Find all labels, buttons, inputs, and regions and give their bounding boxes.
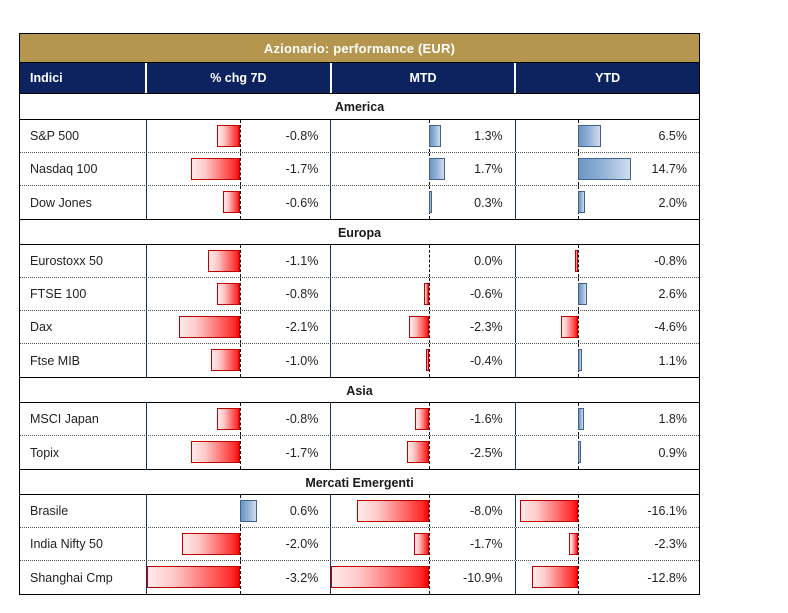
- row-label: Dow Jones: [20, 186, 147, 219]
- bar-area: [147, 403, 248, 435]
- table-row[interactable]: Shanghai Cmp-3.2%-10.9%-12.8%: [20, 561, 699, 594]
- value-bar: [578, 441, 581, 463]
- metric-value-m1: -1.7%: [248, 446, 330, 460]
- row-label: Brasile: [20, 495, 147, 527]
- zero-axis-line: [578, 561, 579, 594]
- bar-area: [147, 344, 248, 377]
- value-bar: [331, 566, 429, 588]
- bar-area: [147, 245, 248, 277]
- bar-area: [331, 344, 432, 377]
- bar-area: [516, 311, 617, 343]
- metric-value-m1: -0.8%: [248, 412, 330, 426]
- metric-value-m2: -1.6%: [433, 412, 515, 426]
- bar-area: [331, 436, 432, 469]
- value-bar: [578, 283, 587, 305]
- bar-area: [331, 311, 432, 343]
- metric-value-m2: 1.7%: [433, 162, 515, 176]
- zero-axis-line: [578, 528, 579, 560]
- bar-area: [331, 278, 432, 310]
- table-row[interactable]: S&P 500-0.8%1.3%6.5%: [20, 120, 699, 153]
- table-row[interactable]: Topix-1.7%-2.5%0.9%: [20, 436, 699, 469]
- metric-value-m2: -10.9%: [433, 571, 515, 585]
- metric-cell-m3: 1.8%: [516, 403, 699, 435]
- bar-area: [147, 153, 248, 185]
- bar-area: [331, 153, 432, 185]
- bar-area: [147, 186, 248, 219]
- value-bar: [407, 441, 430, 463]
- row-label: Dax: [20, 311, 147, 343]
- value-bar: [429, 191, 432, 213]
- zero-axis-line: [240, 528, 241, 560]
- metric-value-m2: -8.0%: [433, 504, 515, 518]
- bar-area: [147, 561, 248, 594]
- screenshot-root: Azionario: performance (EUR) Indici % ch…: [0, 0, 788, 613]
- section-header: Mercati Emergenti: [20, 469, 699, 495]
- metric-value-m3: 0.9%: [617, 446, 699, 460]
- table-row[interactable]: Dax-2.1%-2.3%-4.6%: [20, 311, 699, 344]
- metric-cell-m3: -4.6%: [516, 311, 699, 343]
- bar-area: [516, 528, 617, 560]
- value-bar: [147, 566, 240, 588]
- bar-area: [331, 186, 432, 219]
- metric-value-m3: -4.6%: [617, 320, 699, 334]
- zero-axis-line: [578, 245, 579, 277]
- table-row[interactable]: Dow Jones-0.6%0.3%2.0%: [20, 186, 699, 219]
- section-header: Asia: [20, 377, 699, 403]
- metric-value-m3: 1.8%: [617, 412, 699, 426]
- zero-axis-line: [429, 344, 430, 377]
- value-bar: [409, 316, 430, 338]
- metric-value-m1: -0.8%: [248, 287, 330, 301]
- metric-value-m1: -0.6%: [248, 196, 330, 210]
- table-row[interactable]: MSCI Japan-0.8%-1.6%1.8%: [20, 403, 699, 436]
- metric-cell-m3: -2.3%: [516, 528, 699, 560]
- table-row[interactable]: Ftse MIB-1.0%-0.4%1.1%: [20, 344, 699, 377]
- metric-cell-m3: -16.1%: [516, 495, 699, 527]
- table-row[interactable]: Nasdaq 100-1.7%1.7%14.7%: [20, 153, 699, 186]
- value-bar: [575, 250, 578, 272]
- metric-cell-m3: 6.5%: [516, 120, 699, 152]
- metric-cell-m2: -8.0%: [331, 495, 515, 527]
- value-bar: [424, 283, 429, 305]
- value-bar: [578, 125, 601, 147]
- bar-area: [331, 120, 432, 152]
- bar-area: [516, 186, 617, 219]
- table-body: AmericaS&P 500-0.8%1.3%6.5%Nasdaq 100-1.…: [20, 94, 699, 594]
- metric-value-m1: -1.1%: [248, 254, 330, 268]
- value-bar: [217, 408, 240, 430]
- metric-cell-m1: -0.8%: [147, 278, 331, 310]
- value-bar: [569, 533, 577, 555]
- value-bar: [578, 191, 585, 213]
- row-label: Nasdaq 100: [20, 153, 147, 185]
- zero-axis-line: [429, 495, 430, 527]
- bar-area: [516, 153, 617, 185]
- zero-axis-line: [240, 120, 241, 152]
- metric-cell-m2: -2.5%: [331, 436, 515, 469]
- bar-area: [147, 278, 248, 310]
- metric-value-m1: -3.2%: [248, 571, 330, 585]
- column-header-row: Indici % chg 7D MTD YTD: [20, 63, 699, 94]
- metric-value-m3: 6.5%: [617, 129, 699, 143]
- metric-cell-m3: 2.0%: [516, 186, 699, 219]
- bar-area: [331, 403, 432, 435]
- metric-cell-m2: -0.4%: [331, 344, 515, 377]
- value-bar: [532, 566, 578, 588]
- zero-axis-line: [429, 436, 430, 469]
- metric-value-m2: -1.7%: [433, 537, 515, 551]
- bar-area: [516, 278, 617, 310]
- zero-axis-line: [429, 403, 430, 435]
- bar-area: [516, 120, 617, 152]
- metric-cell-m1: -2.1%: [147, 311, 331, 343]
- zero-axis-line: [578, 311, 579, 343]
- metric-cell-m3: 2.6%: [516, 278, 699, 310]
- zero-axis-line: [240, 436, 241, 469]
- metric-cell-m1: -0.8%: [147, 120, 331, 152]
- bar-area: [147, 120, 248, 152]
- metric-cell-m1: -1.7%: [147, 153, 331, 185]
- bar-area: [147, 528, 248, 560]
- value-bar: [426, 349, 430, 371]
- metric-cell-m2: 1.3%: [331, 120, 515, 152]
- metric-cell-m3: 14.7%: [516, 153, 699, 185]
- zero-axis-line: [429, 245, 430, 277]
- metric-cell-m1: -0.8%: [147, 403, 331, 435]
- metric-value-m3: 14.7%: [617, 162, 699, 176]
- metric-value-m2: 0.3%: [433, 196, 515, 210]
- metric-value-m2: 1.3%: [433, 129, 515, 143]
- zero-axis-line: [429, 561, 430, 594]
- row-label: MSCI Japan: [20, 403, 147, 435]
- bar-area: [516, 245, 617, 277]
- row-label: Topix: [20, 436, 147, 469]
- metric-value-m1: -0.8%: [248, 129, 330, 143]
- bar-area: [331, 245, 432, 277]
- metric-value-m3: -12.8%: [617, 571, 699, 585]
- metric-cell-m2: -0.6%: [331, 278, 515, 310]
- bar-area: [147, 311, 248, 343]
- metric-cell-m2: 0.0%: [331, 245, 515, 277]
- value-bar: [414, 533, 429, 555]
- bar-area: [147, 436, 248, 469]
- row-label: FTSE 100: [20, 278, 147, 310]
- column-header-indici: Indici: [20, 63, 147, 93]
- zero-axis-line: [240, 153, 241, 185]
- metric-value-m1: -1.0%: [248, 354, 330, 368]
- metric-cell-m1: -1.0%: [147, 344, 331, 377]
- metric-value-m3: -16.1%: [617, 504, 699, 518]
- table-row[interactable]: Eurostoxx 50-1.1%0.0%-0.8%: [20, 245, 699, 278]
- column-header-chg7d: % chg 7D: [147, 63, 332, 93]
- metric-value-m1: -2.1%: [248, 320, 330, 334]
- metric-value-m2: -0.6%: [433, 287, 515, 301]
- metric-cell-m2: 0.3%: [331, 186, 515, 219]
- metric-value-m2: -2.5%: [433, 446, 515, 460]
- metric-cell-m1: -0.6%: [147, 186, 331, 219]
- zero-axis-line: [240, 245, 241, 277]
- value-bar: [217, 125, 240, 147]
- zero-axis-line: [240, 561, 241, 594]
- zero-axis-line: [240, 186, 241, 219]
- value-bar: [561, 316, 578, 338]
- row-label: Ftse MIB: [20, 344, 147, 377]
- value-bar: [182, 533, 240, 555]
- value-bar: [520, 500, 578, 522]
- metric-value-m2: 0.0%: [433, 254, 515, 268]
- performance-table: Azionario: performance (EUR) Indici % ch…: [19, 33, 700, 595]
- metric-cell-m2: -1.7%: [331, 528, 515, 560]
- metric-value-m3: -0.8%: [617, 254, 699, 268]
- table-title: Azionario: performance (EUR): [20, 34, 699, 63]
- metric-cell-m3: 0.9%: [516, 436, 699, 469]
- metric-cell-m2: -1.6%: [331, 403, 515, 435]
- bar-area: [331, 495, 432, 527]
- metric-value-m3: -2.3%: [617, 537, 699, 551]
- value-bar: [415, 408, 429, 430]
- metric-value-m2: -2.3%: [433, 320, 515, 334]
- zero-axis-line: [429, 528, 430, 560]
- zero-axis-line: [240, 403, 241, 435]
- row-label: Eurostoxx 50: [20, 245, 147, 277]
- metric-cell-m1: -3.2%: [147, 561, 331, 594]
- metric-cell-m2: 1.7%: [331, 153, 515, 185]
- zero-axis-line: [578, 495, 579, 527]
- value-bar: [211, 349, 240, 371]
- row-label: Shanghai Cmp: [20, 561, 147, 594]
- row-label: S&P 500: [20, 120, 147, 152]
- bar-area: [331, 561, 432, 594]
- row-label: India Nifty 50: [20, 528, 147, 560]
- column-header-mtd: MTD: [332, 63, 517, 93]
- metric-cell-m3: 1.1%: [516, 344, 699, 377]
- bar-area: [516, 436, 617, 469]
- zero-axis-line: [240, 311, 241, 343]
- metric-value-m1: -2.0%: [248, 537, 330, 551]
- value-bar: [191, 158, 240, 180]
- zero-axis-line: [240, 344, 241, 377]
- table-row[interactable]: Brasile0.6%-8.0%-16.1%: [20, 495, 699, 528]
- column-header-ytd: YTD: [516, 63, 699, 93]
- bar-area: [147, 495, 248, 527]
- metric-cell-m3: -12.8%: [516, 561, 699, 594]
- metric-cell-m1: -1.1%: [147, 245, 331, 277]
- section-header: America: [20, 94, 699, 120]
- value-bar: [191, 441, 240, 463]
- value-bar: [223, 191, 240, 213]
- metric-value-m2: -0.4%: [433, 354, 515, 368]
- metric-value-m1: -1.7%: [248, 162, 330, 176]
- section-header: Europa: [20, 219, 699, 245]
- bar-area: [516, 495, 617, 527]
- bar-area: [516, 403, 617, 435]
- value-bar: [179, 316, 240, 338]
- bar-area: [516, 344, 617, 377]
- metric-cell-m1: -1.7%: [147, 436, 331, 469]
- metric-cell-m2: -10.9%: [331, 561, 515, 594]
- zero-axis-line: [240, 278, 241, 310]
- value-bar: [217, 283, 240, 305]
- value-bar: [578, 408, 584, 430]
- value-bar: [208, 250, 240, 272]
- value-bar: [357, 500, 429, 522]
- metric-cell-m1: -2.0%: [147, 528, 331, 560]
- metric-cell-m3: -0.8%: [516, 245, 699, 277]
- metric-value-m1: 0.6%: [248, 504, 330, 518]
- bar-area: [516, 561, 617, 594]
- bar-area: [331, 528, 432, 560]
- table-row[interactable]: FTSE 100-0.8%-0.6%2.6%: [20, 278, 699, 311]
- table-row[interactable]: India Nifty 50-2.0%-1.7%-2.3%: [20, 528, 699, 561]
- value-bar: [578, 349, 582, 371]
- metric-value-m3: 2.6%: [617, 287, 699, 301]
- metric-value-m3: 1.1%: [617, 354, 699, 368]
- metric-cell-m2: -2.3%: [331, 311, 515, 343]
- zero-axis-line: [429, 311, 430, 343]
- metric-cell-m1: 0.6%: [147, 495, 331, 527]
- zero-axis-line: [429, 278, 430, 310]
- metric-value-m3: 2.0%: [617, 196, 699, 210]
